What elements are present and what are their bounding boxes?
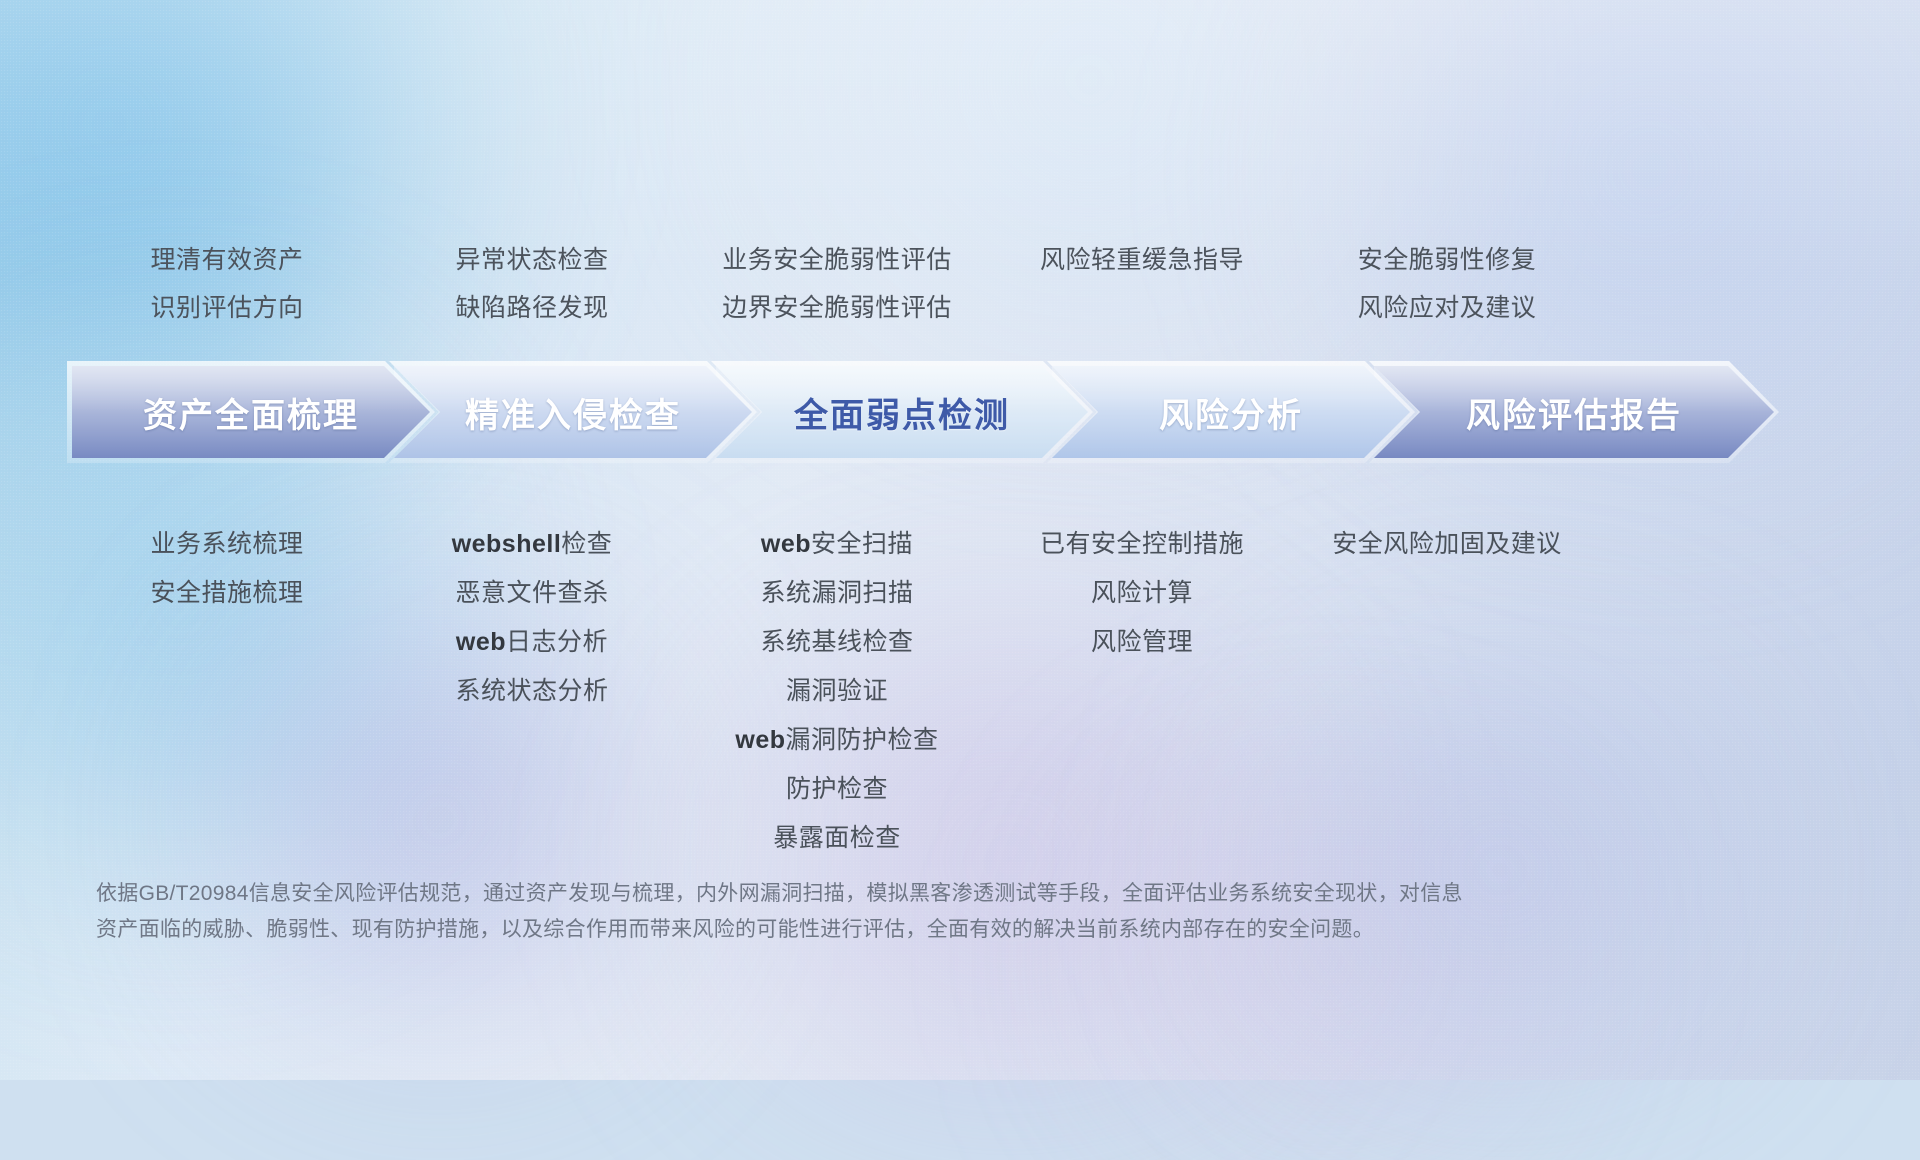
process-step-5[interactable]: 风险评估报告 <box>1374 366 1774 458</box>
list-item: 安全措施梳理 <box>72 569 382 618</box>
top-notes-column-2: 异常状态检查 缺陷路径发现 <box>382 236 682 332</box>
process-step-label: 资产全面梳理 <box>143 388 359 437</box>
top-note: 缺陷路径发现 <box>382 284 682 332</box>
top-notes-row: 理清有效资产 识别评估方向 异常状态检查 缺陷路径发现 业务安全脆弱性评估 边界… <box>0 236 1920 332</box>
process-step-4[interactable]: 风险分析 <box>1052 366 1410 458</box>
bottom-items-column-2: webshell检查 恶意文件查杀 web日志分析 系统状态分析 <box>382 520 682 863</box>
list-item: web安全扫描 <box>682 520 992 569</box>
top-notes-column-3: 业务安全脆弱性评估 边界安全脆弱性评估 <box>682 236 992 332</box>
footer-line-1: 依据GB/T20984信息安全风险评估规范，通过资产发现与梳理，内外网漏洞扫描，… <box>96 876 1656 912</box>
list-item: 漏洞验证 <box>682 667 992 716</box>
footer-description: 依据GB/T20984信息安全风险评估规范，通过资产发现与梳理，内外网漏洞扫描，… <box>96 876 1656 948</box>
top-note: 理清有效资产 <box>72 236 382 284</box>
list-item: 系统漏洞扫描 <box>682 569 992 618</box>
bottom-items-column-3: web安全扫描 系统漏洞扫描 系统基线检查 漏洞验证 web漏洞防护检查 防护检… <box>682 520 992 863</box>
list-item: 已有安全控制措施 <box>992 520 1292 569</box>
top-note: 异常状态检查 <box>382 236 682 284</box>
process-step-1[interactable]: 资产全面梳理 <box>72 366 430 458</box>
list-item: 风险计算 <box>992 569 1292 618</box>
process-step-2[interactable]: 精准入侵检查 <box>394 366 752 458</box>
top-notes-column-5: 安全脆弱性修复 风险应对及建议 <box>1292 236 1602 332</box>
process-diagram: 理清有效资产 识别评估方向 异常状态检查 缺陷路径发现 业务安全脆弱性评估 边界… <box>0 0 1920 1080</box>
list-item: 防护检查 <box>682 765 992 814</box>
process-step-label: 风险分析 <box>1159 388 1303 437</box>
list-item: 系统基线检查 <box>682 618 992 667</box>
list-item: 恶意文件查杀 <box>382 569 682 618</box>
list-item: 系统状态分析 <box>382 667 682 716</box>
list-item: 业务系统梳理 <box>72 520 382 569</box>
list-item: 风险管理 <box>992 618 1292 667</box>
top-notes-column-1: 理清有效资产 识别评估方向 <box>72 236 382 332</box>
process-step-3[interactable]: 全面弱点检测 <box>716 366 1088 458</box>
top-note: 安全脆弱性修复 <box>1292 236 1602 284</box>
top-note: 业务安全脆弱性评估 <box>682 236 992 284</box>
list-item: web日志分析 <box>382 618 682 667</box>
process-step-label: 精准入侵检查 <box>465 388 681 437</box>
process-arrow-band: 资产全面梳理 精准入侵检查 全面弱点检测 风险分析 风险评估报告 <box>72 366 1862 458</box>
process-step-label: 全面弱点检测 <box>794 388 1010 437</box>
list-item: 安全风险加固及建议 <box>1292 520 1602 569</box>
top-note: 识别评估方向 <box>72 284 382 332</box>
footer-line-2: 资产面临的威胁、脆弱性、现有防护措施，以及综合作用而带来风险的可能性进行评估，全… <box>96 912 1656 948</box>
process-step-label: 风险评估报告 <box>1466 388 1682 437</box>
top-note: 边界安全脆弱性评估 <box>682 284 992 332</box>
bottom-items-column-4: 已有安全控制措施 风险计算 风险管理 <box>992 520 1292 863</box>
bottom-items-row: 业务系统梳理 安全措施梳理 webshell检查 恶意文件查杀 web日志分析 … <box>0 520 1920 863</box>
top-note: 风险应对及建议 <box>1292 284 1602 332</box>
list-item: 暴露面检查 <box>682 814 992 863</box>
bottom-items-column-1: 业务系统梳理 安全措施梳理 <box>72 520 382 863</box>
list-item: webshell检查 <box>382 520 682 569</box>
top-notes-column-4: 风险轻重缓急指导 <box>992 236 1292 332</box>
list-item: web漏洞防护检查 <box>682 716 992 765</box>
bottom-items-column-5: 安全风险加固及建议 <box>1292 520 1602 863</box>
top-note: 风险轻重缓急指导 <box>992 236 1292 284</box>
